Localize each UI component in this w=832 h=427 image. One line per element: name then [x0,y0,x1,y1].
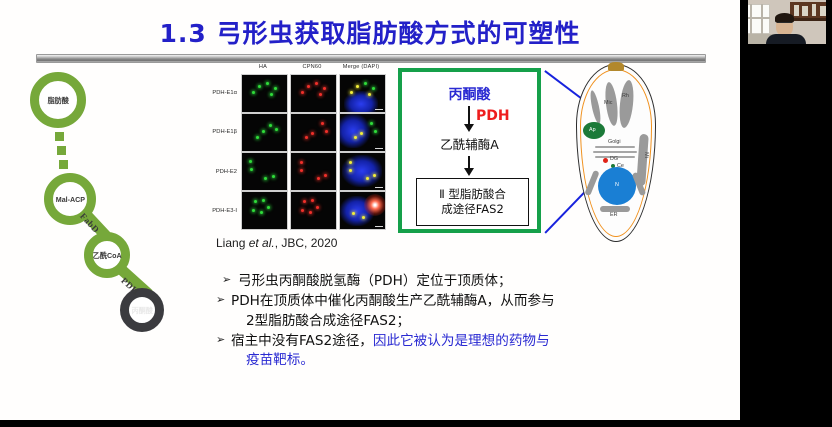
citation-italic: et al. [249,236,275,250]
citation-prefix: Liang [216,236,249,250]
cell-label-apicoplast: Ap [589,127,596,133]
presentation-slide: 1.3 弓形虫获取脂肪酸方式的可塑性 脂肪酸 Mal-ACP 乙酰CoA 丙酮酸… [0,0,740,420]
cell-label-mitochondrion: Mi [643,152,649,158]
webcam-shelf-item-2 [802,6,808,16]
pathway-arrow-2-head [464,168,474,176]
figure-citation: Liang et al., JBC, 2020 [216,236,337,250]
right-edge-stripe [826,0,832,427]
microscopy-cell [241,74,288,113]
microscopy-row-label-e3i: PDH-E3-I [201,208,237,214]
bullet-marker-icon: ➢ [216,292,225,308]
webcam-person-glasses [777,22,792,26]
pathway-result-box: Ⅱ 型脂肪酸合 成途径FAS2 [416,178,529,226]
pathway-step-pyruvate: 丙酮酸 [402,84,537,104]
citation-suffix: , JBC, 2020 [275,236,338,250]
chain-dash-2 [57,146,66,155]
microscopy-row-label-e1a: PDH-E1α [201,90,237,96]
webcam-letterbox [740,44,832,58]
bullet-marker-icon: ➢ [216,332,225,348]
microscopy-cell [241,191,288,230]
microscopy-cell [290,74,337,113]
dense-granule-organelle [603,158,608,163]
webcam-left-margin [740,0,748,58]
microscopy-col-header-cpn60: CPN60 [289,64,335,70]
conoid [608,62,624,71]
bullet-text-continuation: 2型脂肪酸合成途径FAS2； [231,312,686,331]
chain-node-pyruvate: 丙酮酸 [120,288,164,332]
microscopy-cell [241,113,288,152]
microscopy-cell [339,152,386,191]
microscopy-cell [339,113,386,152]
list-item: ➢ 弓形虫丙酮酸脱氢酶（PDH）定位于顶质体； [216,272,686,291]
list-item: ➢ 宿主中没有FAS2途径，因此它被认为是理想的药物与 疫苗靶标。 [216,332,686,371]
microscopy-col-header-ha: HA [240,64,286,70]
chain-dash-3 [59,160,68,169]
microscopy-cell [241,152,288,191]
cell-label-micronemes: Mic [604,100,612,106]
microscopy-row-label-e2: PDH-E2 [201,169,237,175]
bottom-black-bar [0,420,832,427]
cell-label-er: ER [610,212,618,218]
chain-dash-1 [55,132,64,141]
microscopy-cell [339,191,386,230]
pathway-result-line-1: Ⅱ 型脂肪酸合 [439,187,506,202]
pathway-result-line-2: 成途径FAS2 [441,202,504,217]
cell-label-rhoptries: Rh [622,93,629,99]
metabolic-chain-diagram: 脂肪酸 Mal-ACP 乙酰CoA 丙酮酸 FabD PDH [8,66,183,346]
chain-node-acetyl-coa-label: 乙酰CoA [93,250,122,260]
list-item: ➢ PDH在顶质体中催化丙酮酸生产乙酰辅酶A，从而参与 2型脂肪酸合成途径FAS… [216,292,686,331]
screen: 1.3 弓形虫获取脂肪酸方式的可塑性 脂肪酸 Mal-ACP 乙酰CoA 丙酮酸… [0,0,832,427]
presenter-webcam-video[interactable] [740,0,832,58]
parasite-cell-diagram: Ap Golgi DG Ce N ER Mic Rh Mi [556,60,674,245]
bullet-list: ➢ 弓形虫丙酮酸脱氢酶（PDH）定位于顶质体； ➢ PDH在顶质体中催化丙酮酸生… [216,272,686,371]
webcam-shelf-item-3 [812,4,816,16]
microscopy-cell [339,74,386,113]
bullet-text: 弓形虫丙酮酸脱氢酶（PDH）定位于顶质体； [238,273,512,289]
microscopy-row-label-e1b: PDH-E1β [201,129,237,135]
page-title: 1.3 弓形虫获取脂肪酸方式的可塑性 [0,14,740,50]
bullet-text-continuation: 疫苗靶标。 [231,351,686,370]
microscopy-cell [290,152,337,191]
cell-label-golgi: Golgi [608,139,621,145]
microscopy-cell [290,113,337,152]
webcam-shelf-item-1 [794,5,799,16]
pathway-arrow-1-head [464,124,474,132]
cell-label-dense-granule: DG [610,156,618,162]
pathway-arrow-1-line [468,106,470,126]
chain-node-pyruvate-label: 丙酮酸 [131,305,152,315]
bullet-text: PDH在顶质体中催化丙酮酸生产乙酰辅酶A，从而参与 [231,293,555,309]
chain-node-mal-acp-label: Mal-ACP [55,195,84,204]
chain-node-acetyl-coa: 乙酰CoA [84,232,130,278]
microscopy-col-header-merge: Merge (DAPI) [338,64,384,70]
bullet-marker-icon: ➢ [222,272,231,288]
pathway-enzyme-pdh: PDH [476,108,510,124]
bullet-text: 宿主中没有FAS2途径， [231,333,373,349]
cell-label-nucleus: N [615,182,619,188]
webcam-window-mullion-1 [750,4,752,34]
microscopy-cell [290,191,337,230]
pathway-box: 丙酮酸 PDH 乙酰辅酶A Ⅱ 型脂肪酸合 成途径FAS2 [398,68,541,233]
chain-node-fatty-acid: 脂肪酸 [30,72,86,128]
webcam-window-mullion-2 [761,4,763,34]
video-sidebar [740,0,832,427]
chain-node-fatty-acid-label: 脂肪酸 [47,95,68,105]
bullet-text-highlight: 因此它被认为是理想的药物与 [373,333,550,349]
pathway-step-acetyl-coa: 乙酰辅酶A [402,134,537,153]
